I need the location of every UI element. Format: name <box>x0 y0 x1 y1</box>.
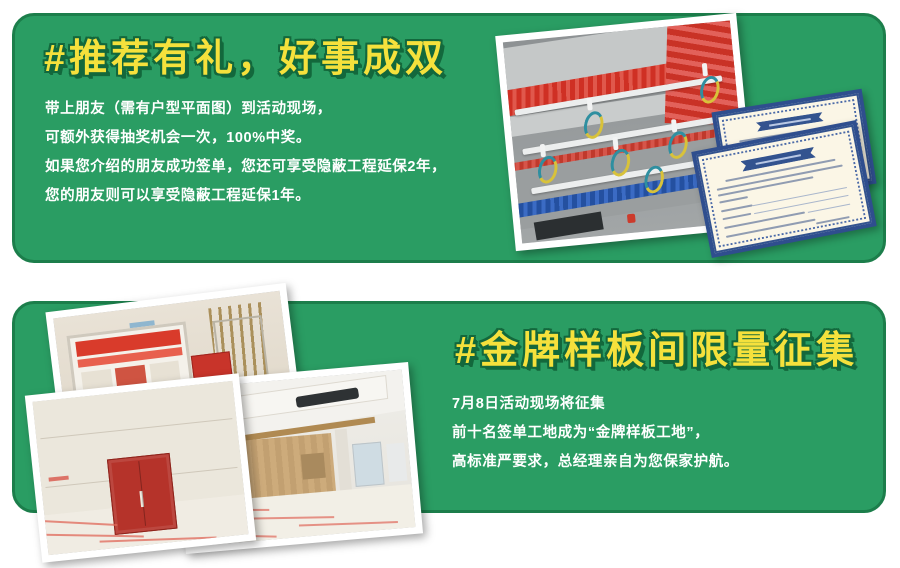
model-site-headline: #金牌样板间限量征集 <box>455 332 858 370</box>
red-cabinet-photo-image <box>33 381 249 555</box>
referral-body: 带上朋友（需有户型平面图）到活动现场， 可额外获得抽奖机会一次，100%中奖。 … <box>45 95 446 211</box>
model-site-body: 7月8日活动现场将征集 前十名签单工地成为“金牌样板工地”， 高标准严要求，总经… <box>452 390 739 477</box>
red-cabinet-photo <box>25 373 256 563</box>
referral-body-line-4: 您的朋友则可以享受隐蔽工程延保1年。 <box>45 182 446 211</box>
certificate-front-title-ribbon <box>740 147 816 172</box>
model-site-body-line-1: 7月8日活动现场将征集 <box>452 390 739 419</box>
model-site-body-line-2: 前十名签单工地成为“金牌样板工地”， <box>452 419 739 448</box>
referral-headline: #推荐有礼，好事成双 <box>44 40 447 78</box>
model-site-body-line-3: 高标准严要求，总经理亲自为您保家护航。 <box>452 448 739 477</box>
referral-body-line-1: 带上朋友（需有户型平面图）到活动现场， <box>45 95 446 124</box>
poster-stage: #推荐有礼，好事成双 带上朋友（需有户型平面图）到活动现场， 可额外获得抽奖机会… <box>0 0 900 568</box>
referral-body-line-2: 可额外获得抽奖机会一次，100%中奖。 <box>45 124 446 153</box>
red-cabinet-illustration <box>33 381 249 555</box>
referral-body-line-3: 如果您介绍的朋友成功签单，您还可享受隐蔽工程延保2年， <box>45 153 446 182</box>
red-cabinet <box>107 453 177 535</box>
